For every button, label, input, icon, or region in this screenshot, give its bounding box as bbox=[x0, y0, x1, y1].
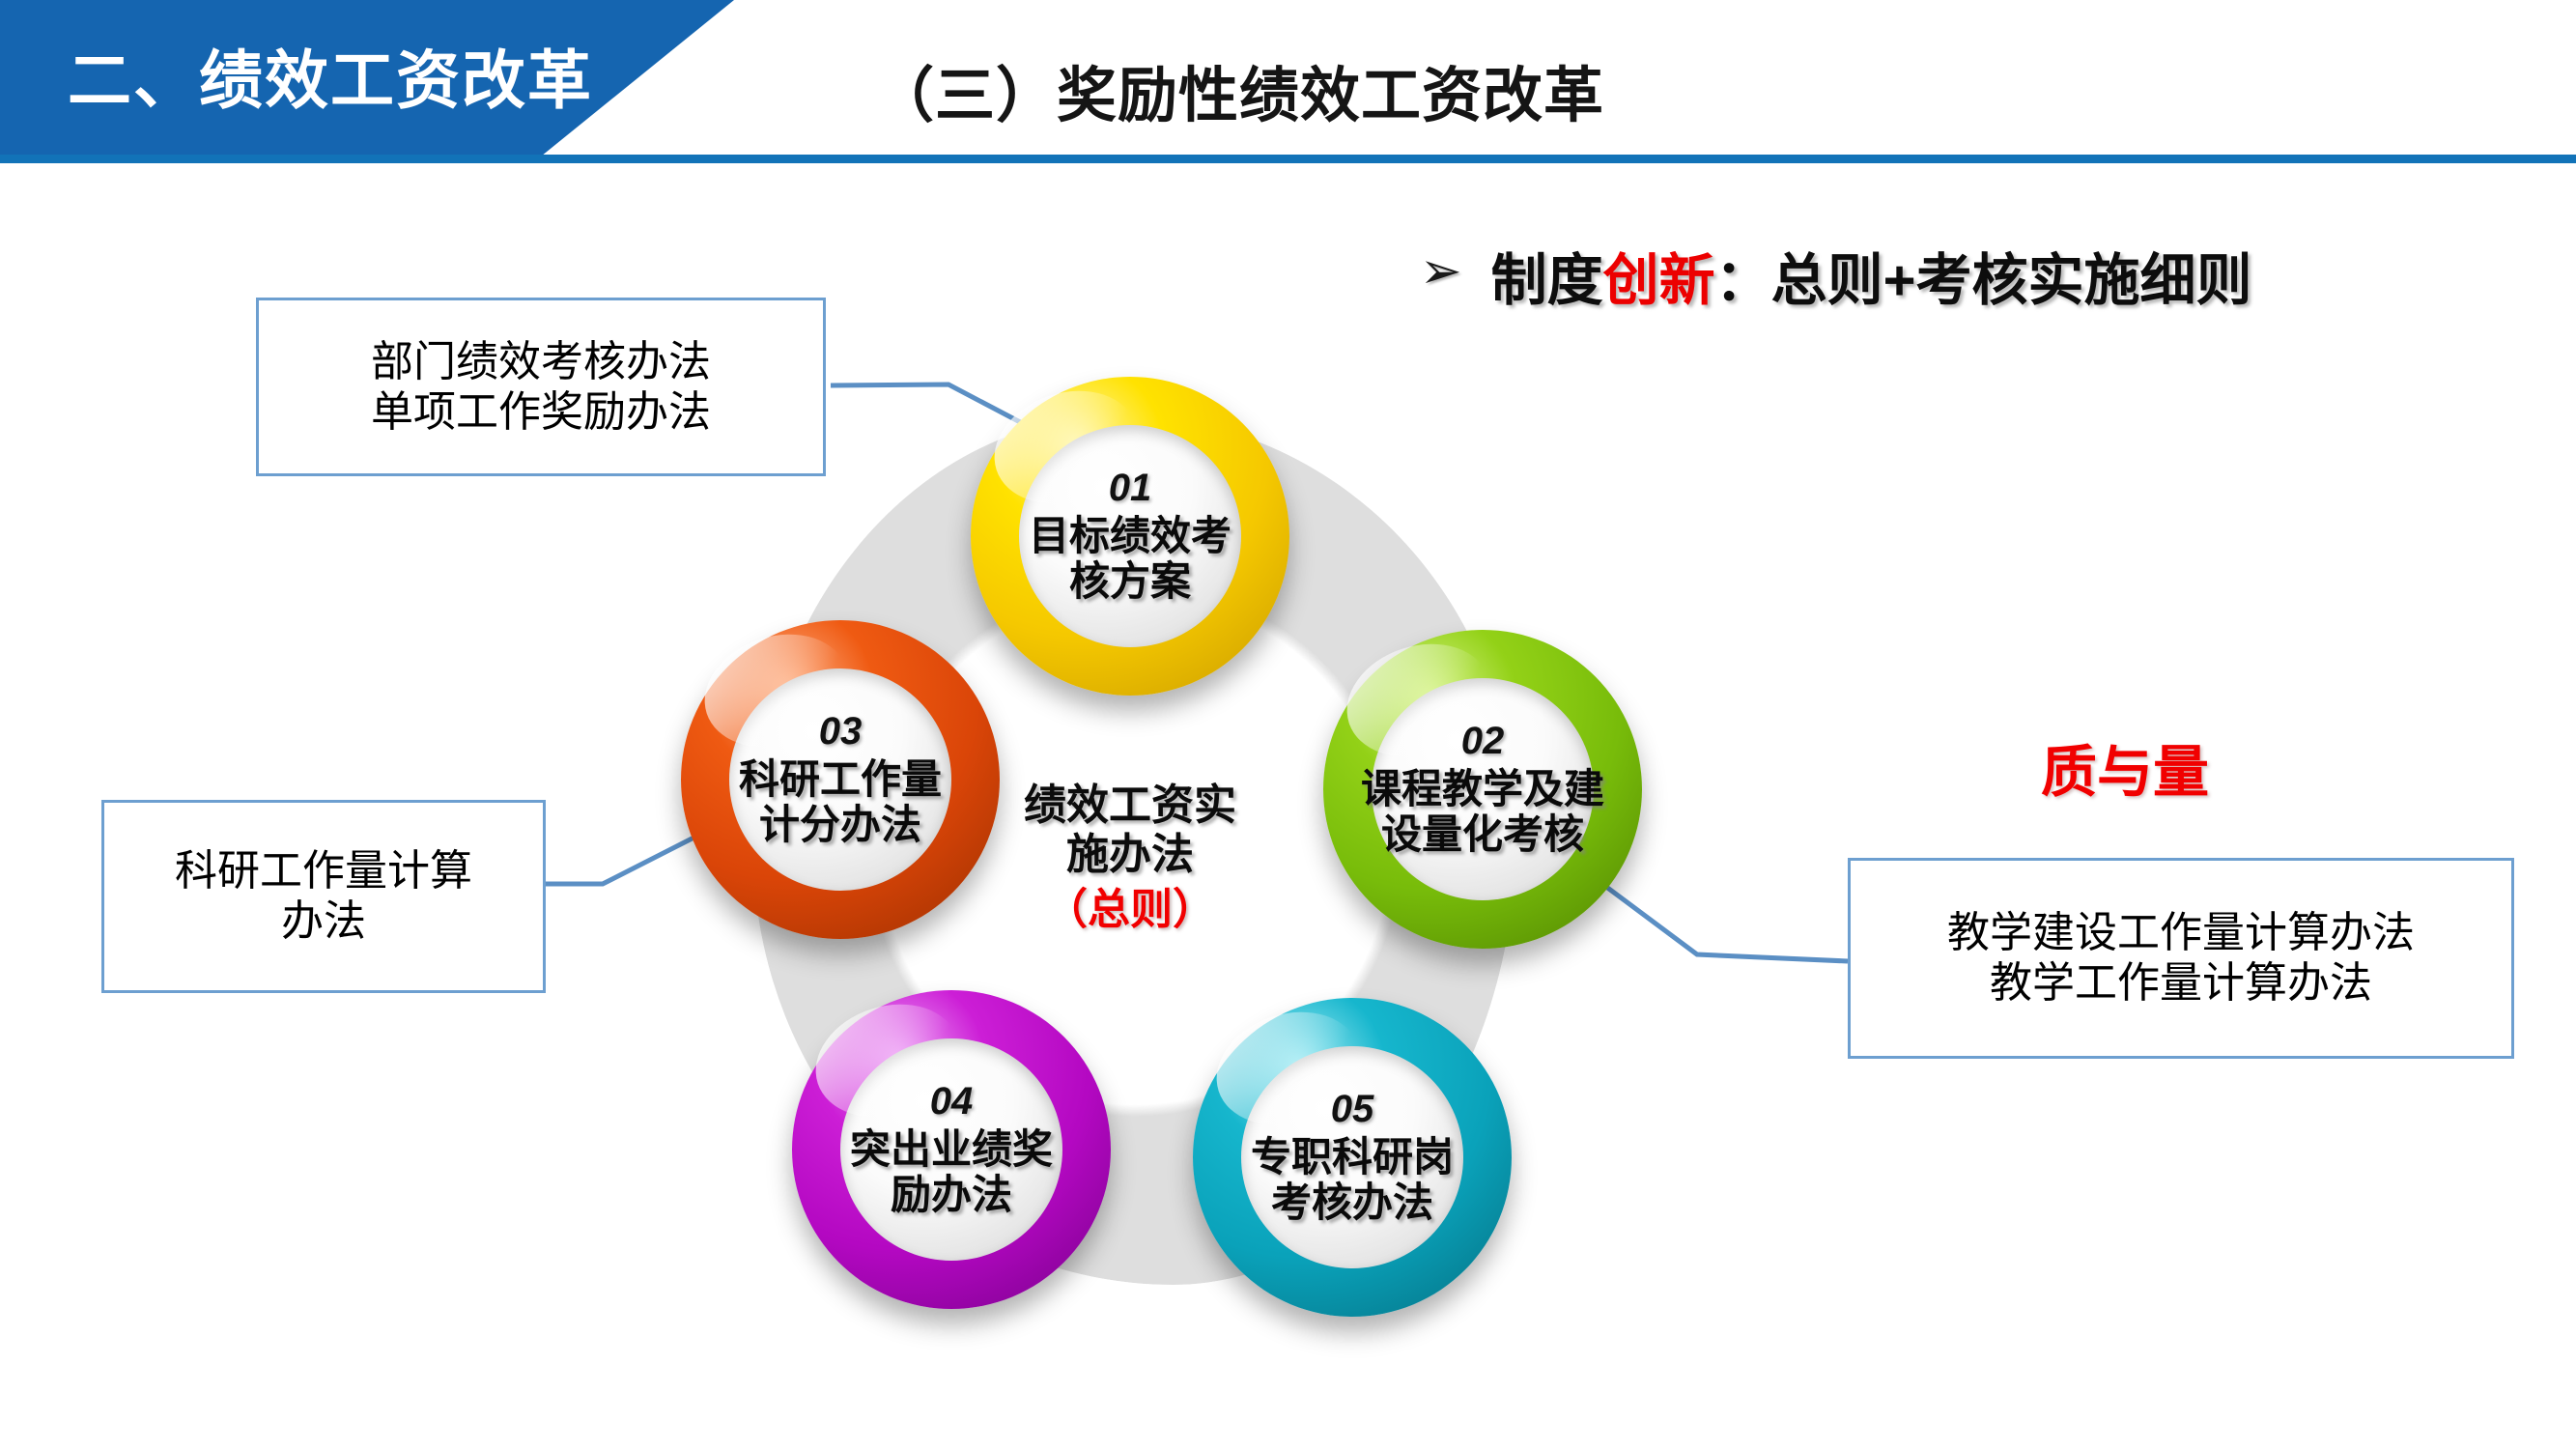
ring-label-line1: 课程教学及建 bbox=[1361, 766, 1604, 811]
ring-label-line1: 目标绩效考 bbox=[1029, 513, 1231, 558]
bullet-suffix: ：总则+考核实施细则 bbox=[1715, 249, 2252, 312]
page-title: （三）奖励性绩效工资改革 bbox=[874, 46, 1604, 133]
bullet-prefix: 制度 bbox=[1491, 249, 1603, 312]
diagram-ring-04[interactable]: 04 突出业绩奖 励办法 bbox=[792, 990, 1111, 1309]
ring-label-line2: 计分办法 bbox=[759, 802, 921, 847]
ring-inner-disc: 03 科研工作量 计分办法 bbox=[729, 668, 951, 891]
callout-line-1: 教学建设工作量计算办法 bbox=[1947, 908, 2415, 958]
callout-box-research-workload[interactable]: 科研工作量计算 办法 bbox=[101, 800, 546, 993]
diagram-ring-02[interactable]: 02 课程教学及建 设量化考核 bbox=[1323, 630, 1642, 949]
center-line-3: （总则） bbox=[971, 885, 1289, 934]
diagram-ring-05[interactable]: 05 专职科研岗 考核办法 bbox=[1193, 998, 1512, 1317]
slide-canvas: 二、绩效工资改革 （三）奖励性绩效工资改革 ➢ 制度创新：总则+考核实施细则 质… bbox=[0, 0, 2576, 1450]
ring-label-line2: 励办法 bbox=[891, 1172, 1012, 1217]
center-line-2: 施办法 bbox=[971, 830, 1289, 879]
ring-label-line1: 突出业绩奖 bbox=[850, 1126, 1053, 1172]
ring-number: 05 bbox=[1331, 1090, 1374, 1128]
ring-number: 04 bbox=[930, 1082, 974, 1121]
ring-number: 02 bbox=[1461, 722, 1505, 760]
circular-diagram: 01 目标绩效考 核方案 02 课程教学及建 设量化考核 03 科研工作量 计分… bbox=[637, 377, 1661, 1401]
diagram-ring-03[interactable]: 03 科研工作量 计分办法 bbox=[681, 620, 1000, 939]
bullet-accent: 创新 bbox=[1603, 249, 1715, 312]
callout-box-teaching-workload[interactable]: 教学建设工作量计算办法 教学工作量计算办法 bbox=[1848, 858, 2514, 1059]
diagram-center-label: 绩效工资实 施办法 （总则） bbox=[971, 781, 1289, 934]
ring-label-line1: 科研工作量 bbox=[739, 756, 942, 802]
bullet-text: 制度创新：总则+考核实施细则 bbox=[1491, 235, 2252, 316]
ring-number: 01 bbox=[1109, 469, 1152, 507]
ring-inner-disc: 04 突出业绩奖 励办法 bbox=[840, 1038, 1062, 1261]
callout-line-2: 教学工作量计算办法 bbox=[1990, 958, 2372, 1009]
ring-label-line2: 考核办法 bbox=[1271, 1180, 1433, 1225]
callout-line-1: 科研工作量计算 bbox=[175, 846, 472, 896]
ring-label-line2: 设量化考核 bbox=[1381, 811, 1584, 857]
arrow-bullet-icon: ➢ bbox=[1420, 246, 1462, 297]
ring-inner-disc: 01 目标绩效考 核方案 bbox=[1019, 425, 1241, 647]
ring-inner-disc: 05 专职科研岗 考核办法 bbox=[1241, 1046, 1463, 1268]
callout-line-2: 办法 bbox=[281, 896, 366, 947]
ring-label-line2: 核方案 bbox=[1069, 558, 1191, 604]
header-divider-rule bbox=[0, 155, 2576, 163]
institution-innovation-bullet: ➢ 制度创新：总则+考核实施细则 bbox=[1420, 235, 2251, 316]
quality-quantity-label: 质与量 bbox=[2041, 726, 2209, 808]
ring-number: 03 bbox=[819, 712, 863, 751]
center-line-1: 绩效工资实 bbox=[971, 781, 1289, 830]
ring-inner-disc: 02 课程教学及建 设量化考核 bbox=[1372, 678, 1594, 900]
header-chapter-label: 二、绩效工资改革 bbox=[68, 29, 593, 122]
ring-label-line1: 专职科研岗 bbox=[1251, 1134, 1454, 1180]
diagram-ring-01[interactable]: 01 目标绩效考 核方案 bbox=[971, 377, 1289, 696]
